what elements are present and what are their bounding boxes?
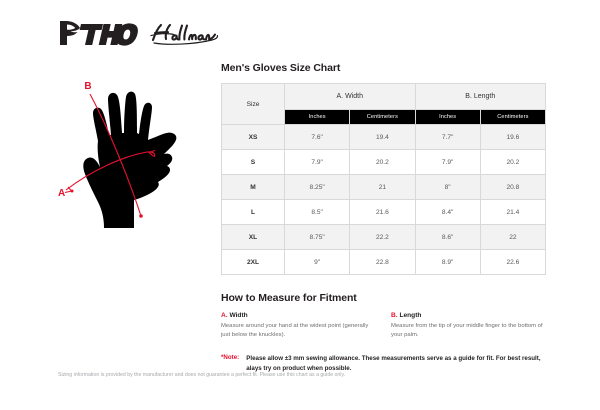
column-header-length: B. Length	[415, 84, 546, 110]
how-to-measure-title: How to Measure for Fitment	[221, 292, 549, 304]
cell-width-centimeters: 22.8	[350, 250, 415, 275]
label-b: B	[84, 81, 91, 92]
column-header-width: A. Width	[285, 84, 416, 110]
measure-item-description: Measure around your hand at the widest p…	[221, 322, 377, 341]
table-row: S 7.9" 20.2 7.9" 20.2	[222, 150, 546, 175]
table-row: M 8.25" 21 8" 20.8	[222, 175, 546, 200]
column-header-width-inches: Inches	[285, 110, 350, 125]
table-row: XL 8.75" 22.2 8.6" 22	[222, 225, 546, 250]
column-header-length-inches: Inches	[415, 110, 480, 125]
cell-length-inches: 7.9"	[415, 150, 480, 175]
cell-size: 2XL	[222, 250, 285, 275]
cell-length-inches: 7.7"	[415, 125, 480, 150]
table-row: XS 7.6" 19.4 7.7" 19.6	[222, 125, 546, 150]
footer-disclaimer: Sizing information is provided by the ma…	[58, 371, 358, 380]
cell-length-inches: 8"	[415, 175, 480, 200]
measure-item-description: Measure from the tip of your middle fing…	[391, 322, 547, 341]
cell-width-centimeters: 20.2	[350, 150, 415, 175]
hallman-logo	[150, 22, 224, 46]
column-header-size: Size	[222, 84, 285, 125]
table-row: 2XL 9" 22.8 8.9" 22.6	[222, 250, 546, 275]
cell-size: L	[222, 200, 285, 225]
cell-length-inches: 8.4"	[415, 200, 480, 225]
cell-length-centimeters: 22.6	[480, 250, 545, 275]
cell-width-centimeters: 21.6	[350, 200, 415, 225]
table-body: XS 7.6" 19.4 7.7" 19.6 S 7.9" 20.2 7.9" …	[222, 125, 546, 275]
measure-item-name: Length	[399, 312, 421, 319]
cell-width-inches: 8.5"	[285, 200, 350, 225]
cell-width-inches: 7.9"	[285, 150, 350, 175]
table-header: Size A. Width B. Length Inches Centimete…	[222, 84, 546, 125]
size-chart-table: Size A. Width B. Length Inches Centimete…	[221, 83, 546, 275]
cell-length-inches: 8.9"	[415, 250, 480, 275]
measure-item-name: Width	[229, 312, 247, 319]
logo-bar	[0, 0, 600, 62]
cell-width-inches: 9"	[285, 250, 350, 275]
measure-item-letter: B.	[391, 312, 398, 319]
page-title: Men's Gloves Size Chart	[221, 62, 549, 74]
cell-length-centimeters: 21.4	[480, 200, 545, 225]
glove-silhouette	[83, 92, 176, 228]
cell-length-inches: 8.6"	[415, 225, 480, 250]
cell-length-centimeters: 22	[480, 225, 545, 250]
label-a: A	[58, 188, 65, 199]
cell-width-inches: 8.75"	[285, 225, 350, 250]
cell-size: S	[222, 150, 285, 175]
measure-item-heading: A. Width	[221, 312, 377, 319]
how-to-measure-section: How to Measure for Fitment A. Width Meas…	[221, 292, 549, 373]
cell-size: M	[222, 175, 285, 200]
cell-length-centimeters: 20.8	[480, 175, 545, 200]
measure-item-length: B. Length Measure from the tip of your m…	[391, 312, 547, 341]
header-row-groups: Size A. Width B. Length	[222, 84, 546, 110]
cell-width-centimeters: 19.4	[350, 125, 415, 150]
glove-measurement-diagram: B A	[52, 78, 212, 268]
measure-item-heading: B. Length	[391, 312, 547, 319]
cell-width-inches: 8.25"	[285, 175, 350, 200]
cell-width-inches: 7.6"	[285, 125, 350, 150]
cell-length-centimeters: 20.2	[480, 150, 545, 175]
cell-size: XL	[222, 225, 285, 250]
table-row: L 8.5" 21.6 8.4" 21.4	[222, 200, 546, 225]
main-content: Men's Gloves Size Chart Size A. Width B.…	[221, 62, 549, 373]
column-header-length-centimeters: Centimeters	[480, 110, 545, 125]
note-label: *Note:	[221, 354, 239, 361]
cell-width-centimeters: 22.2	[350, 225, 415, 250]
thor-logo	[58, 20, 144, 46]
cell-length-centimeters: 19.6	[480, 125, 545, 150]
column-header-width-centimeters: Centimeters	[350, 110, 415, 125]
measure-item-width: A. Width Measure around your hand at the…	[221, 312, 377, 341]
measure-item-letter: A.	[221, 312, 228, 319]
cell-size: XS	[222, 125, 285, 150]
how-to-measure-columns: A. Width Measure around your hand at the…	[221, 312, 549, 341]
cell-width-centimeters: 21	[350, 175, 415, 200]
